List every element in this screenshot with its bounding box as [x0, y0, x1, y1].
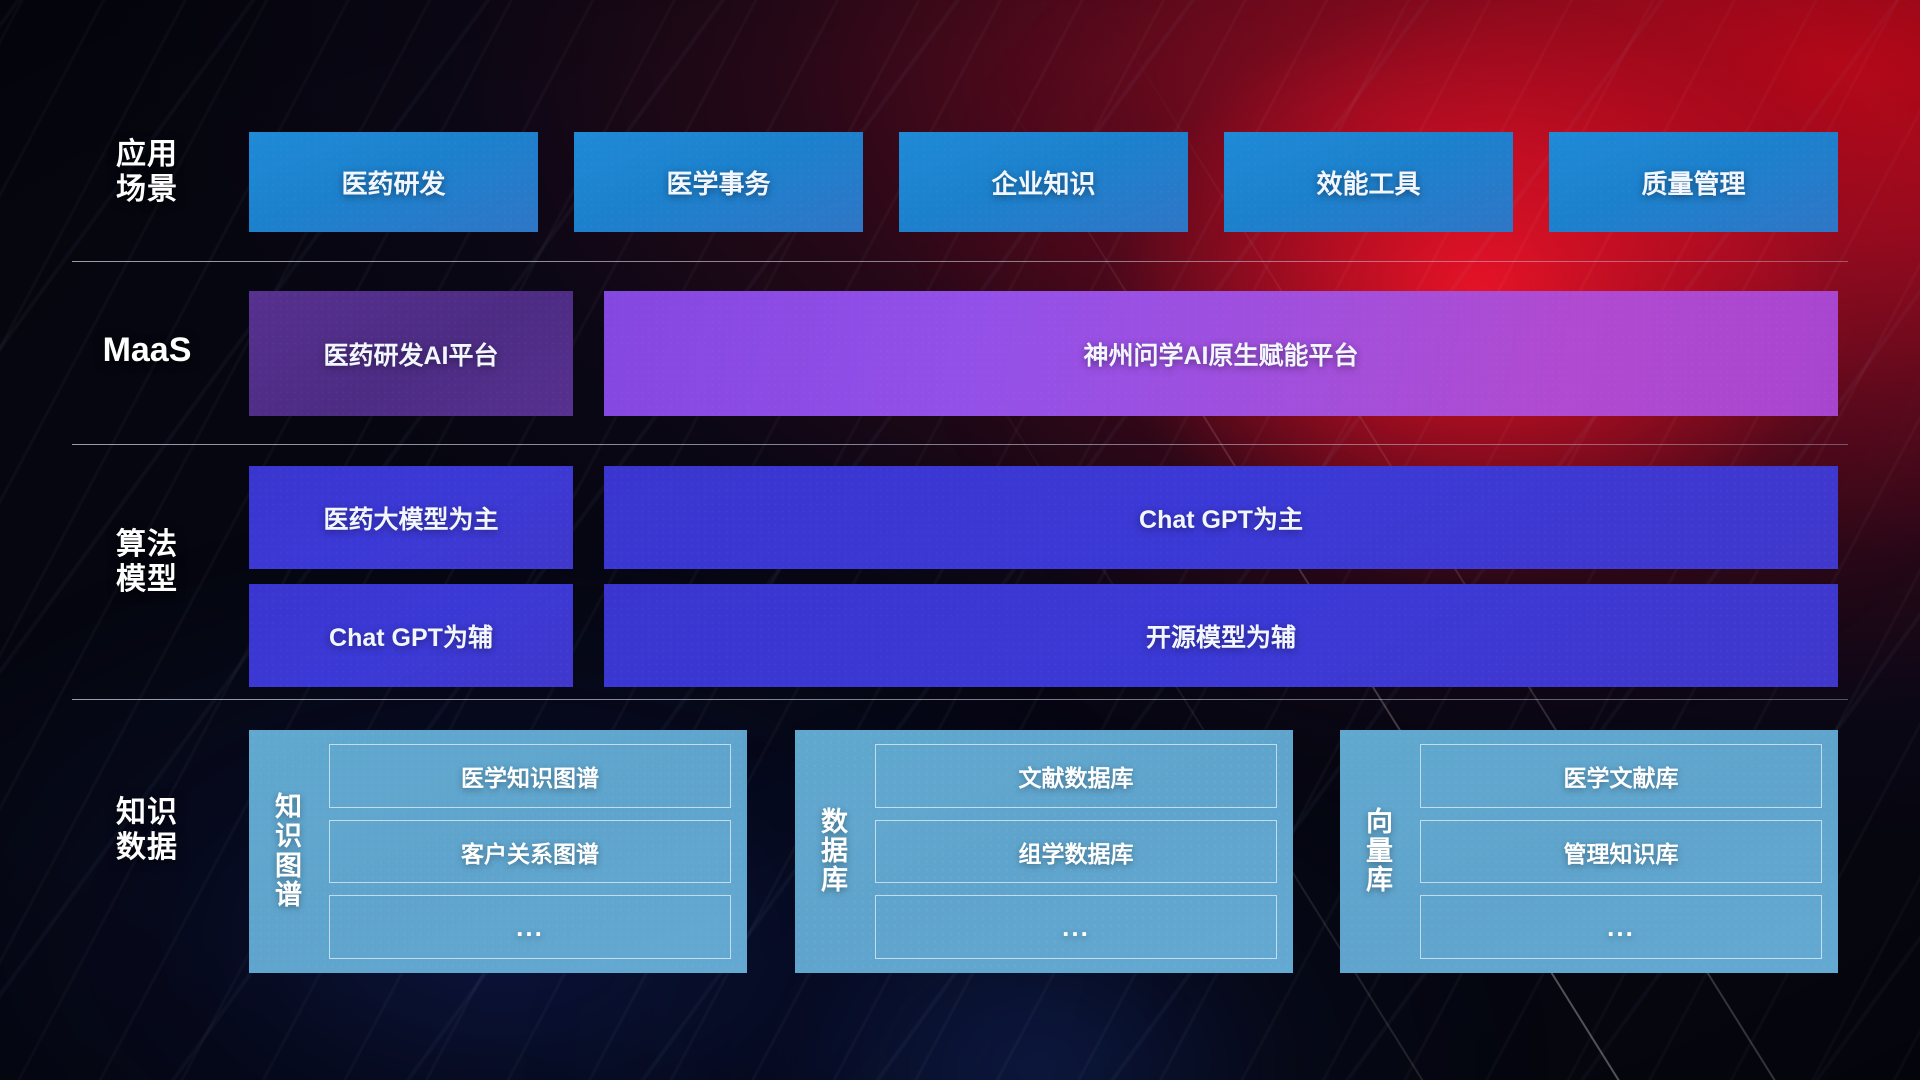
knowledge-item-more[interactable]: ...: [1420, 895, 1822, 959]
row-label-maas: MaaS: [72, 331, 222, 370]
knowledge-item[interactable]: 文献数据库: [875, 744, 1277, 808]
knowledge-group-vector[interactable]: 向 量 库 医学文献库 管理知识库 ...: [1340, 730, 1838, 973]
row-label-application: 应用 场景: [72, 138, 222, 208]
architecture-diagram: 应用 场景 医药研发 医学事务 企业知识 效能工具 质量管理 MaaS 医药研发…: [0, 0, 1920, 1080]
algo-box-pharma-llm[interactable]: 医药大模型为主: [249, 466, 573, 569]
divider-1: [72, 261, 1848, 262]
layer-application: 应用 场景 医药研发 医学事务 企业知识 效能工具 质量管理: [0, 132, 1920, 232]
divider-2: [72, 444, 1848, 445]
app-box-4[interactable]: 效能工具: [1224, 132, 1513, 232]
knowledge-items-vector: 医学文献库 管理知识库 ...: [1420, 744, 1822, 959]
algo-box-chatgpt-secondary[interactable]: Chat GPT为辅: [249, 584, 573, 687]
row-label-algorithm: 算法 模型: [72, 528, 222, 598]
knowledge-item[interactable]: 组学数据库: [875, 820, 1277, 884]
knowledge-item[interactable]: 客户关系图谱: [329, 820, 731, 884]
knowledge-group-database[interactable]: 数 据 库 文献数据库 组学数据库 ...: [795, 730, 1293, 973]
knowledge-items-database: 文献数据库 组学数据库 ...: [875, 744, 1277, 959]
layer-algorithm: 算法 模型 医药大模型为主 Chat GPT为主 Chat GPT为辅 开源模型…: [0, 466, 1920, 696]
maas-box-pharma-platform[interactable]: 医药研发AI平台: [249, 291, 573, 416]
knowledge-group-title-graph: 知 识 图 谱: [263, 793, 315, 910]
knowledge-group-graph[interactable]: 知 识 图 谱 医学知识图谱 客户关系图谱 ...: [249, 730, 747, 973]
knowledge-item-more[interactable]: ...: [875, 895, 1277, 959]
row-label-knowledge: 知识 数据: [72, 796, 222, 866]
divider-3: [72, 699, 1848, 700]
knowledge-group-title-database: 数 据 库: [809, 808, 861, 895]
app-box-5[interactable]: 质量管理: [1549, 132, 1838, 232]
layer-knowledge: 知识 数据 知 识 图 谱 医学知识图谱 客户关系图谱 ... 数 据 库: [0, 730, 1920, 973]
app-box-1[interactable]: 医药研发: [249, 132, 538, 232]
knowledge-item[interactable]: 医学知识图谱: [329, 744, 731, 808]
knowledge-items-graph: 医学知识图谱 客户关系图谱 ...: [329, 744, 731, 959]
algo-box-chatgpt-primary[interactable]: Chat GPT为主: [604, 466, 1838, 569]
algo-box-opensource-secondary[interactable]: 开源模型为辅: [604, 584, 1838, 687]
layer-maas: MaaS 医药研发AI平台 神州问学AI原生赋能平台: [0, 291, 1920, 416]
knowledge-item-more[interactable]: ...: [329, 895, 731, 959]
app-box-3[interactable]: 企业知识: [899, 132, 1188, 232]
maas-box-shenzhou-platform[interactable]: 神州问学AI原生赋能平台: [604, 291, 1838, 416]
app-box-2[interactable]: 医学事务: [574, 132, 863, 232]
knowledge-item[interactable]: 医学文献库: [1420, 744, 1822, 808]
knowledge-item[interactable]: 管理知识库: [1420, 820, 1822, 884]
knowledge-group-title-vector: 向 量 库: [1354, 808, 1406, 895]
